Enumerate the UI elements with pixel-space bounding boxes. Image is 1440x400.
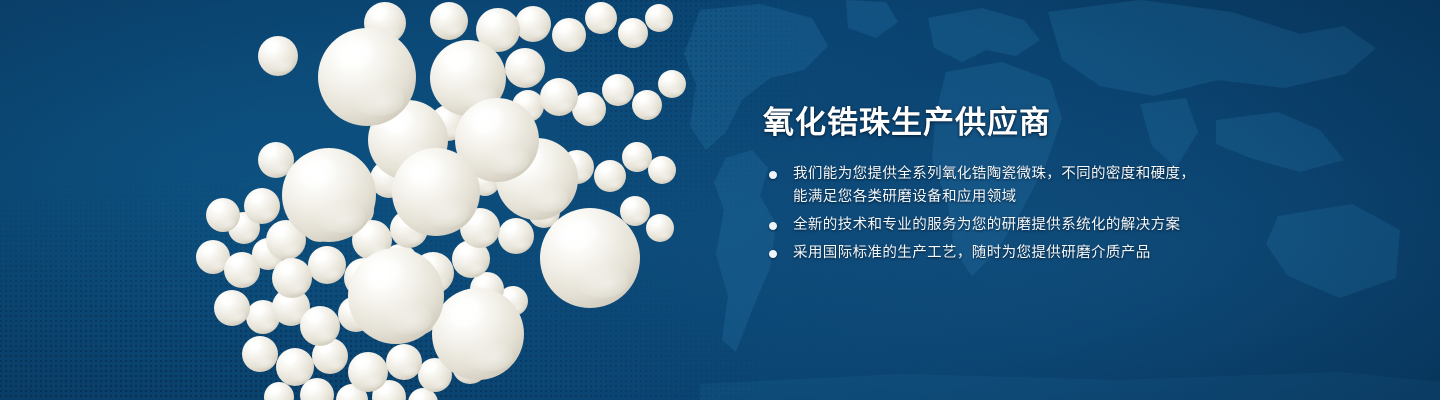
bullet-dot-icon (769, 222, 777, 230)
zirconia-bead (242, 336, 278, 372)
banner-copy: 氧化锆珠生产供应商 我们能为您提供全系列氧化锆陶瓷微珠，不同的密度和硬度， 能满… (763, 104, 1363, 265)
zirconia-bead (540, 78, 578, 116)
zirconia-bead (622, 142, 652, 172)
zirconia-bead (282, 148, 376, 242)
zirconia-bead (318, 28, 416, 126)
zirconia-bead (646, 214, 674, 242)
zirconia-bead (214, 290, 250, 326)
hero-banner: 氧化锆珠生产供应商 我们能为您提供全系列氧化锆陶瓷微珠，不同的密度和硬度， 能满… (0, 0, 1440, 400)
banner-feature-list: 我们能为您提供全系列氧化锆陶瓷微珠，不同的密度和硬度， 能满足您各类研磨设备和应… (763, 163, 1363, 265)
bullet-line-2: 能满足您各类研磨设备和应用领域 (793, 186, 1363, 209)
zirconia-bead (602, 74, 634, 106)
zirconia-bead (430, 2, 468, 40)
zirconia-bead (645, 4, 673, 32)
zirconia-bead (618, 18, 648, 48)
zirconia-bead (348, 352, 388, 392)
zirconia-bead (386, 344, 422, 380)
zirconia-bead (272, 258, 312, 298)
list-item: 采用国际标准的生产工艺，随时为您提供研磨介质产品 (763, 242, 1363, 265)
zirconia-bead-cluster-image (0, 0, 720, 400)
zirconia-bead (540, 208, 640, 308)
bullet-dot-icon (769, 171, 777, 179)
zirconia-bead (276, 348, 314, 386)
zirconia-bead (224, 252, 260, 288)
zirconia-bead (505, 48, 545, 88)
list-item: 全新的技术和专业的服务为您的研磨提供系统化的解决方案 (763, 214, 1363, 237)
zirconia-bead (648, 156, 676, 184)
zirconia-bead (206, 198, 240, 232)
zirconia-bead (594, 160, 626, 192)
zirconia-bead (498, 218, 534, 254)
bullet-line-1: 采用国际标准的生产工艺，随时为您提供研磨介质产品 (793, 242, 1363, 265)
bullet-line-1: 我们能为您提供全系列氧化锆陶瓷微珠，不同的密度和硬度， (793, 163, 1363, 186)
zirconia-bead (348, 248, 444, 344)
zirconia-bead (308, 246, 346, 284)
banner-headline: 氧化锆珠生产供应商 (763, 104, 1363, 141)
zirconia-bead (632, 90, 662, 120)
list-item: 我们能为您提供全系列氧化锆陶瓷微珠，不同的密度和硬度， 能满足您各类研磨设备和应… (763, 163, 1363, 209)
zirconia-bead (585, 2, 617, 34)
zirconia-bead (552, 18, 586, 52)
zirconia-bead (300, 306, 340, 346)
zirconia-bead (658, 70, 686, 98)
zirconia-bead (244, 188, 280, 224)
bullet-dot-icon (769, 250, 777, 258)
bullet-line-1: 全新的技术和专业的服务为您的研磨提供系统化的解决方案 (793, 214, 1363, 237)
zirconia-bead (258, 36, 298, 76)
zirconia-bead (392, 148, 480, 236)
zirconia-bead (432, 288, 524, 380)
zirconia-bead (515, 6, 551, 42)
